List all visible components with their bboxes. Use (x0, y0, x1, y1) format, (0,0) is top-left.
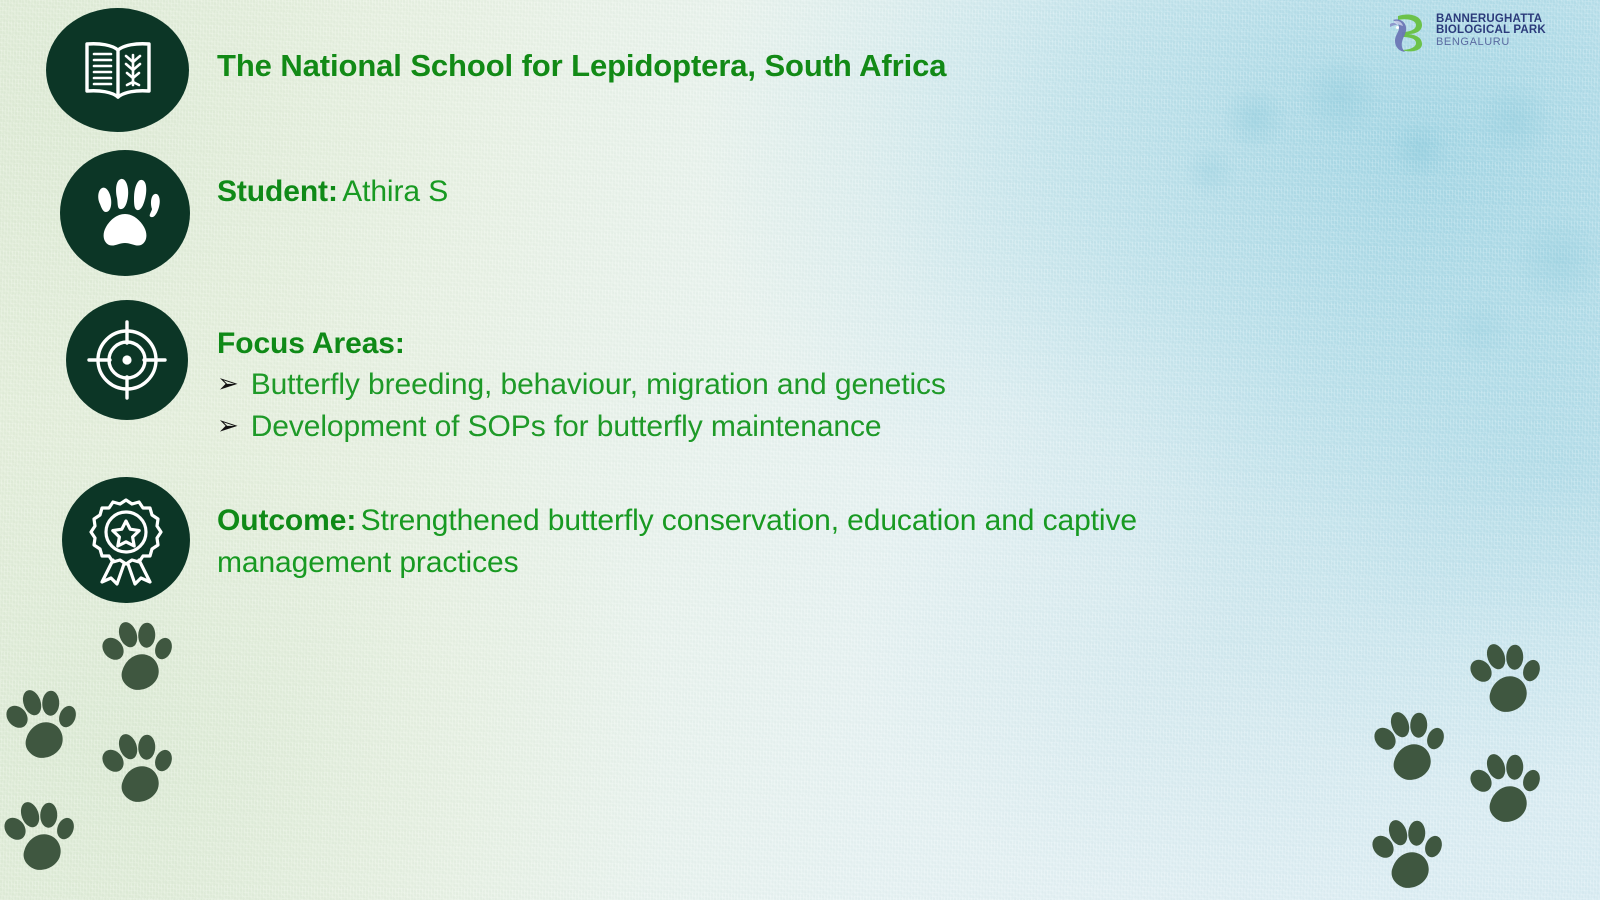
park-logo-mark-icon (1384, 8, 1430, 54)
bullet-arrow-icon: ➢ (217, 370, 239, 396)
paw-print-decoration (0, 796, 82, 885)
paw-print-decoration (96, 728, 180, 817)
paw-print-decoration (1464, 748, 1548, 837)
bullet-arrow-icon: ➢ (217, 412, 239, 438)
watercolor-wash-edge (0, 0, 1600, 900)
student-value: Athira S (342, 175, 448, 208)
focus-label: Focus Areas: (217, 327, 405, 361)
open-book-with-plant-icon (80, 37, 156, 103)
target-crosshair-icon (84, 317, 170, 403)
paw-print-decoration (1366, 814, 1450, 900)
outcome-line-2: management practices (217, 546, 519, 580)
focus-bullet-2-text: Development of SOPs for butterfly mainte… (251, 410, 882, 444)
focus-bullet-2: ➢ Development of SOPs for butterfly main… (217, 410, 882, 444)
student-line: Student: Athira S (217, 175, 448, 209)
student-badge (60, 150, 190, 276)
paw-print-decoration (96, 616, 180, 705)
paw-print-decoration (0, 684, 84, 773)
park-logo-text: BANNERUGHATTA BIOLOGICAL PARK BENGALURU (1436, 14, 1546, 49)
outcome-label: Outcome: (217, 504, 356, 537)
focus-bullet-1: ➢ Butterfly breeding, behaviour, migrati… (217, 368, 946, 402)
outcome-text-1: Strengthened butterfly conservation, edu… (361, 504, 1137, 537)
student-label: Student: (217, 175, 338, 208)
slide-canvas: BANNERUGHATTA BIOLOGICAL PARK BENGALURU (0, 0, 1600, 900)
outcome-line-1: Outcome: Strengthened butterfly conserva… (217, 504, 1397, 538)
animal-paw-icon (87, 174, 163, 252)
title-badge (46, 8, 189, 132)
page-title: The National School for Lepidoptera, Sou… (217, 48, 946, 84)
paw-print-decoration (1368, 706, 1452, 795)
focus-badge (66, 300, 188, 420)
paper-texture-overlay (0, 0, 1600, 900)
park-logo: BANNERUGHATTA BIOLOGICAL PARK BENGALURU (1384, 8, 1546, 54)
outcome-badge (62, 477, 190, 603)
paw-print-decoration (1464, 638, 1548, 727)
award-rosette-icon (86, 494, 166, 586)
logo-line-3: BENGALURU (1436, 37, 1546, 48)
focus-bullet-1-text: Butterfly breeding, behaviour, migration… (251, 368, 946, 402)
